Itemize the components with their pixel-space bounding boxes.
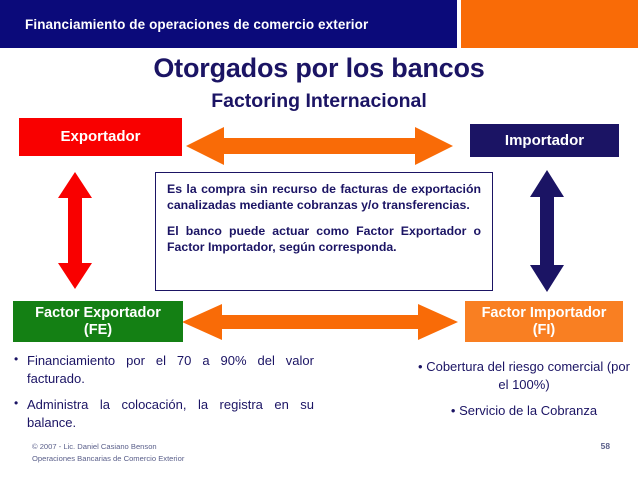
- footer-credit-line1: © 2007 - Lic. Daniel Casiano Benson: [32, 441, 184, 453]
- slide: Financiamiento de operaciones de comerci…: [0, 0, 638, 479]
- header-orange-band: [461, 0, 638, 48]
- box-factor-importador-line1: Factor Importador: [482, 305, 607, 321]
- definition-paragraph-1: Es la compra sin recurso de facturas de …: [167, 181, 481, 214]
- list-item: Financiamiento por el 70 a 90% del valor…: [14, 352, 314, 387]
- box-factor-importador[interactable]: Factor Importador (FI): [465, 301, 623, 342]
- definition-paragraph-2: El banco puede actuar como Factor Export…: [167, 223, 481, 256]
- box-factor-exportador-line2: (FE): [84, 322, 112, 338]
- list-item: • Servicio de la Cobranza: [418, 402, 630, 420]
- header-title: Financiamiento de operaciones de comerci…: [25, 17, 368, 32]
- page-subtitle: Factoring Internacional: [0, 90, 638, 113]
- horizontal-double-arrow-top: [186, 125, 453, 167]
- list-item: • Cobertura del riesgo comercial (por el…: [418, 358, 630, 393]
- footer-credit: © 2007 - Lic. Daniel Casiano Benson Oper…: [32, 441, 184, 465]
- box-factor-importador-line2: (FI): [533, 322, 556, 338]
- page-title: Otorgados por los bancos: [0, 53, 638, 84]
- box-exportador[interactable]: Exportador: [19, 118, 182, 156]
- box-factor-exportador-label: Factor Exportador (FE): [35, 305, 161, 338]
- box-importador[interactable]: Importador: [470, 124, 619, 157]
- vertical-double-arrow-left: [57, 172, 93, 289]
- box-factor-exportador-line1: Factor Exportador: [35, 305, 161, 321]
- vertical-double-arrow-right: [529, 170, 565, 292]
- bullet-list-factor-importador: • Cobertura del riesgo comercial (por el…: [418, 358, 630, 429]
- horizontal-double-arrow-bottom: [182, 302, 458, 342]
- page-number: 58: [601, 441, 610, 451]
- list-item: Administra la colocación, la registra en…: [14, 396, 314, 431]
- box-factor-exportador[interactable]: Factor Exportador (FE): [13, 301, 183, 342]
- footer-credit-line2: Operaciones Bancarias de Comercio Exteri…: [32, 453, 184, 465]
- definition-textbox: Es la compra sin recurso de facturas de …: [155, 172, 493, 291]
- bullet-list-factor-exportador: Financiamiento por el 70 a 90% del valor…: [14, 352, 314, 440]
- box-factor-importador-label: Factor Importador (FI): [482, 305, 607, 338]
- box-exportador-label: Exportador: [60, 128, 140, 145]
- box-importador-label: Importador: [505, 132, 584, 149]
